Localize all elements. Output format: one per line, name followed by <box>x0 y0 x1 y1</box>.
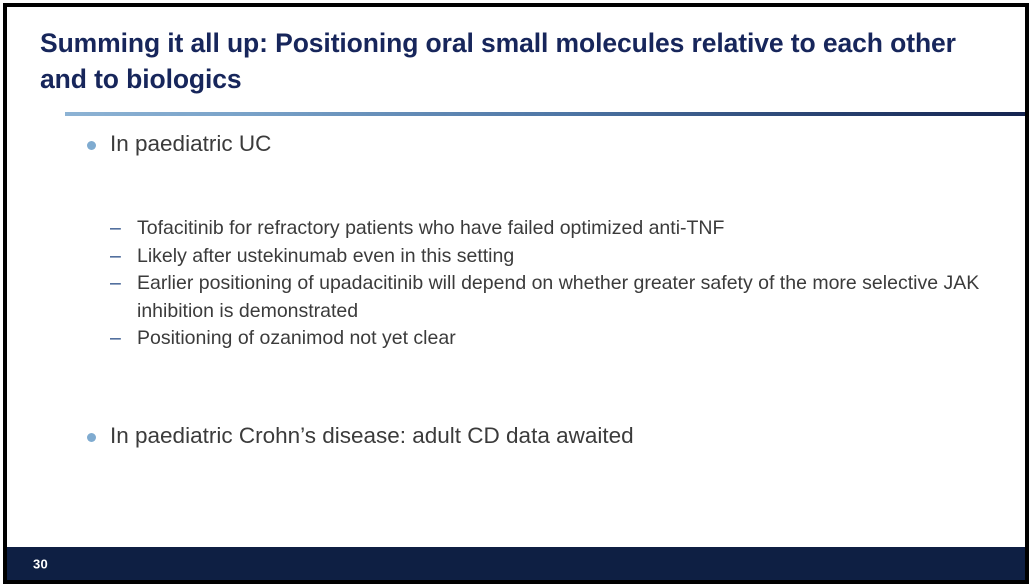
bullet-level1-paediatric-crohns: In paediatric Crohn’s disease: adult CD … <box>7 421 1025 451</box>
footer-bar: 30 <box>7 547 1025 580</box>
bullet-content: In paediatric UC – Tofacitinib for refra… <box>7 129 1025 451</box>
bullet-dot-icon <box>87 433 96 442</box>
dash-marker-icon: – <box>110 325 125 353</box>
slide-number: 30 <box>33 556 48 571</box>
bullet-level2-upadacitinib: – Earlier positioning of upadacitinib wi… <box>7 270 1025 325</box>
slide-canvas: Summing it all up: Positioning oral smal… <box>0 0 1033 588</box>
spacer <box>7 159 1025 215</box>
page-title: Summing it all up: Positioning oral smal… <box>40 25 965 97</box>
slide-frame: Summing it all up: Positioning oral smal… <box>3 3 1029 584</box>
bullet-level2-label: Positioning of ozanimod not yet clear <box>137 327 456 349</box>
bullet-level2-ozanimod: – Positioning of ozanimod not yet clear <box>7 325 1025 353</box>
dash-marker-icon: – <box>110 215 125 243</box>
title-block: Summing it all up: Positioning oral smal… <box>40 25 965 97</box>
bullet-level2-label: Tofacitinib for refractory patients who … <box>137 217 724 239</box>
bullet-level2-tofacitinib: – Tofacitinib for refractory patients wh… <box>7 215 1025 243</box>
dash-marker-icon: – <box>110 270 125 298</box>
bullet-level1-paediatric-uc: In paediatric UC <box>7 129 1025 159</box>
bullet-level2-label: Earlier positioning of upadacitinib will… <box>137 272 979 322</box>
spacer <box>7 353 1025 421</box>
bullet-level2-label: Likely after ustekinumab even in this se… <box>137 245 514 267</box>
bullet-level2-ustekinumab: – Likely after ustekinumab even in this … <box>7 243 1025 271</box>
dash-marker-icon: – <box>110 243 125 271</box>
bullet-level1-label: In paediatric UC <box>110 131 271 156</box>
slide-body: Summing it all up: Positioning oral smal… <box>7 7 1025 580</box>
bullet-level1-label: In paediatric Crohn’s disease: adult CD … <box>110 423 634 448</box>
title-underline-gradient <box>65 112 1025 116</box>
bullet-dot-icon <box>87 141 96 150</box>
